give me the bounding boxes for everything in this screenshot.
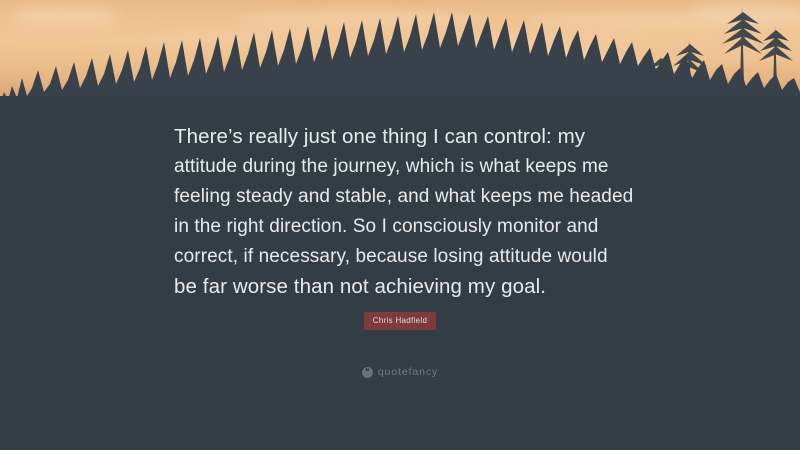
quote-line: in the right direction. So I consciously… [174,212,634,242]
quote-line: There’s really just one thing I can cont… [174,122,634,152]
quote-mark-icon: ❝ [362,367,373,378]
poster-content: There’s really just one thing I can cont… [0,0,800,450]
quote-line: attitude during the journey, which is wh… [174,152,634,182]
quote-text: There’s really just one thing I can cont… [174,122,634,302]
author-badge[interactable]: Chris Hadfield [364,312,436,330]
brand-logo[interactable]: ❝ quotefancy [0,366,800,378]
quote-poster: There’s really just one thing I can cont… [0,0,800,450]
quote-line: correct, if necessary, because losing at… [174,242,634,272]
author-attribution: Chris Hadfield [0,310,800,330]
brand-name: quotefancy [378,366,438,378]
quote-line: feeling steady and stable, and what keep… [174,182,634,212]
quote-line: be far worse than not achieving my goal. [174,272,634,302]
